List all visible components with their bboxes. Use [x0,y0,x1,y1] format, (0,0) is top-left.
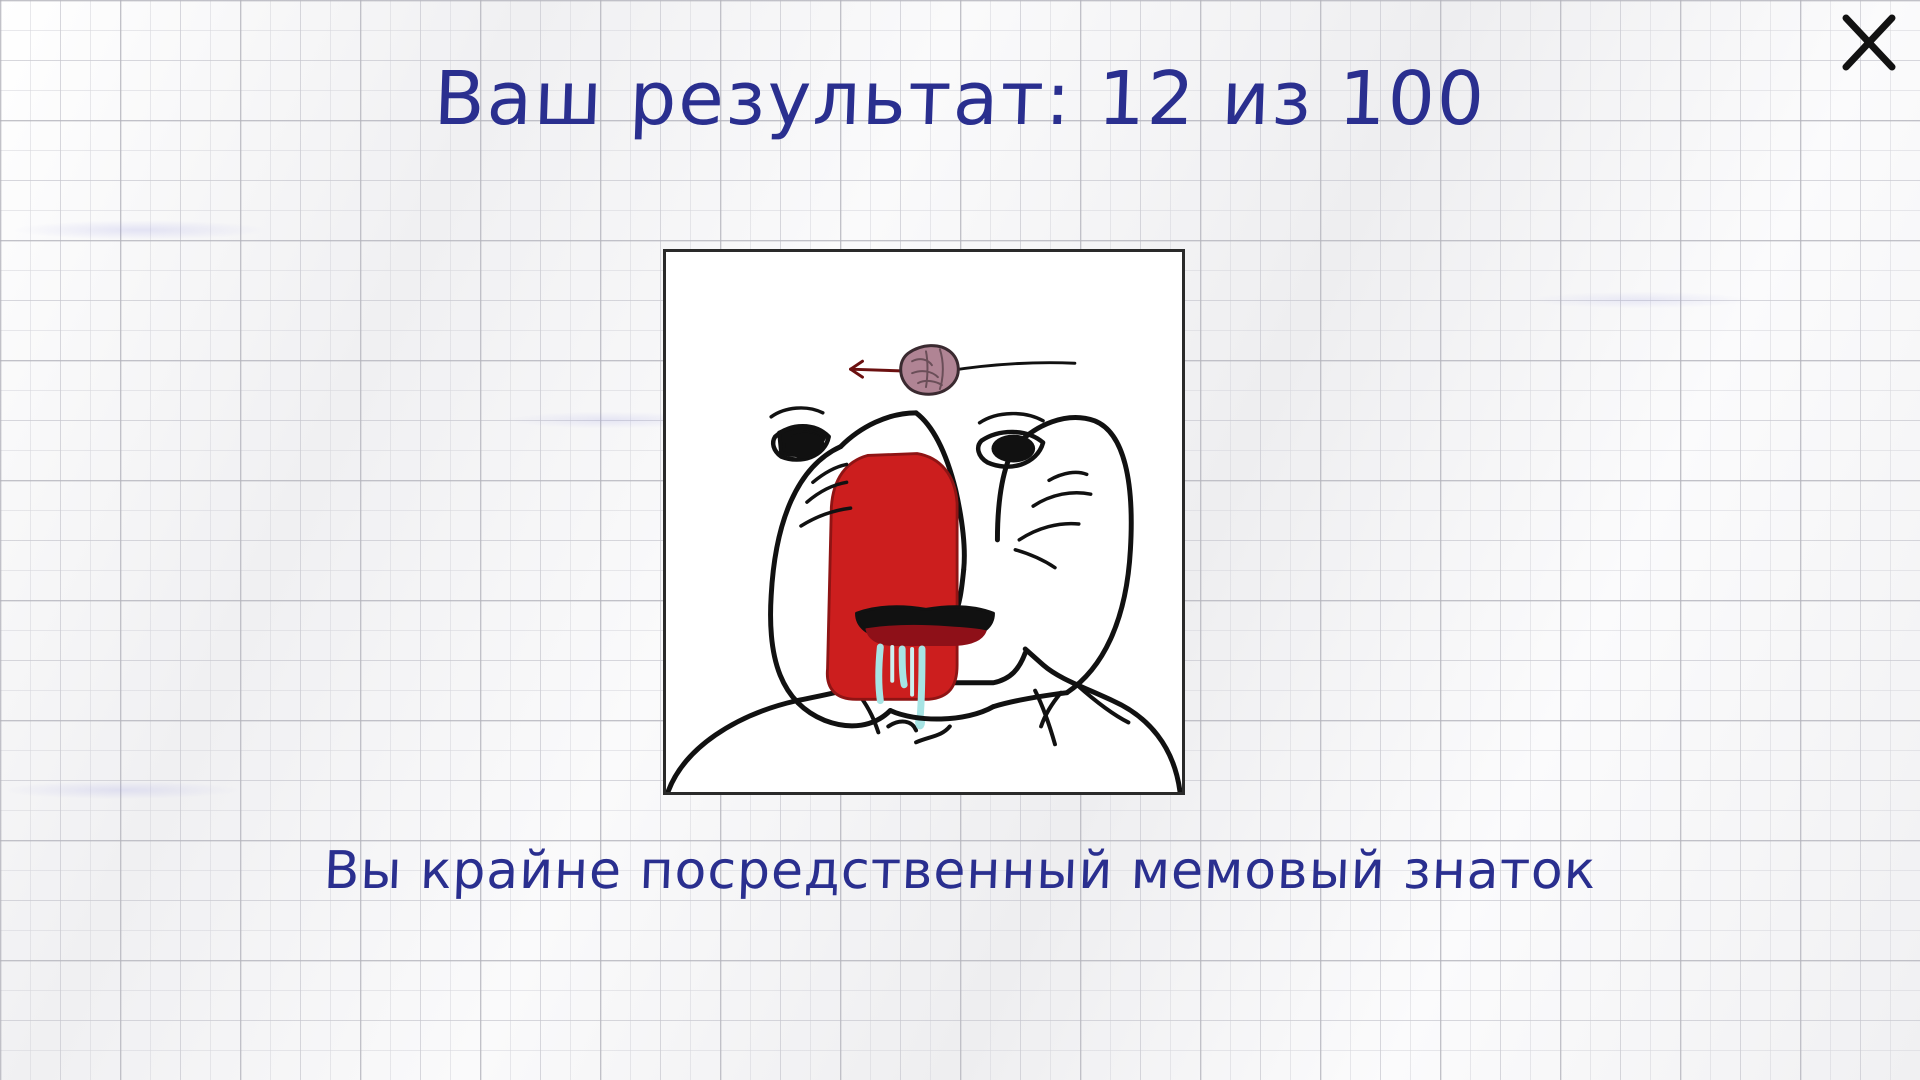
result-caption: Вы крайне посредственный мемовый знаток [0,845,1920,897]
meme-image-frame [663,249,1185,795]
quiz-result-screen: Ваш результат: 12 из 100 [0,0,1920,1080]
result-title: Ваш результат: 12 из 100 [0,62,1920,136]
brainlet-wojak-illustration [666,252,1182,792]
